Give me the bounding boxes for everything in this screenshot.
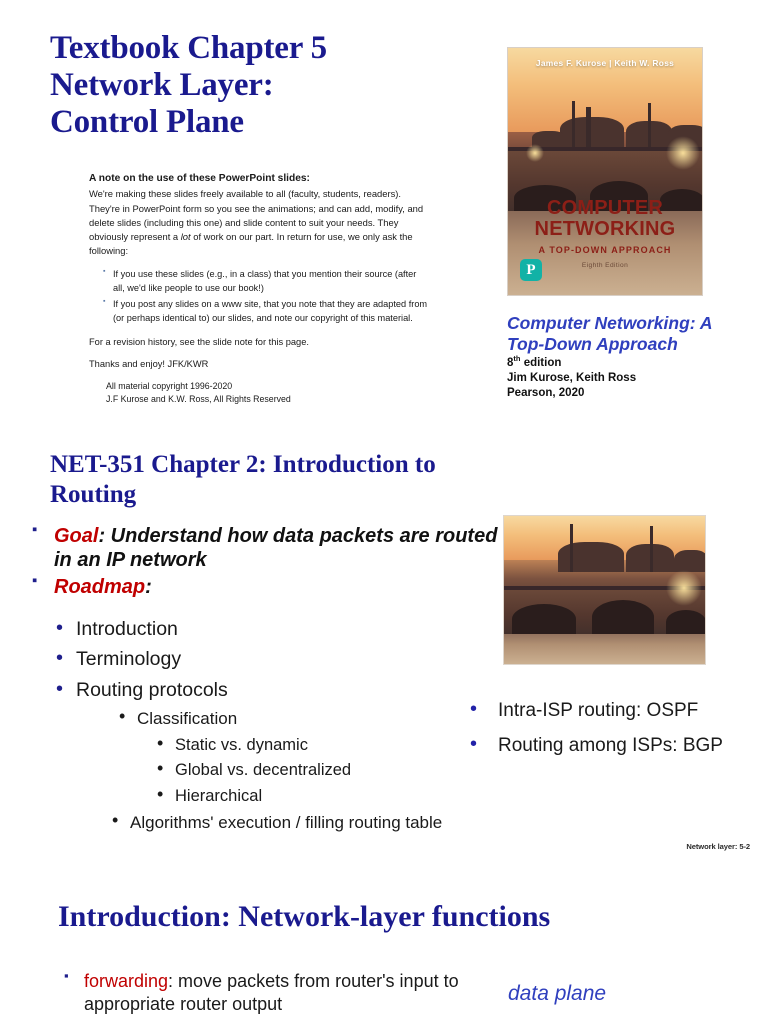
bullet-routing-among-isps: Routing among ISPs: BGP — [462, 735, 762, 758]
cover-title-line-1: COMPUTER — [508, 198, 702, 218]
roadmap-item-routing-protocols: Routing protocols — [50, 679, 490, 702]
slide1-title-line-3: Control Plane — [50, 104, 490, 141]
isp-routing-bullets: Intra-ISP routing: OSPF Routing among IS… — [462, 700, 762, 770]
photo2-streetlight-glow — [666, 570, 702, 606]
classification-item-global-decentralized: Global vs. decentralized — [153, 761, 490, 781]
goal-text: : Understand how data packets are routed… — [54, 525, 497, 571]
note-revision-history: For a revision history, see the slide no… — [89, 337, 429, 347]
note-paragraph: We're making these slides freely availab… — [89, 187, 429, 258]
slide2-footer: Network layer: 5-2 — [686, 842, 750, 851]
book-caption: Computer Networking: A Top-Down Approach… — [507, 313, 757, 402]
cover-title-line-2: NETWORKING — [508, 219, 702, 239]
slide2-title: NET-351 Chapter 2: Introduction to Routi… — [50, 450, 550, 509]
photo2-skyline-silhouette — [504, 537, 705, 573]
roadmap-bullet: Roadmap: — [28, 575, 498, 599]
goal-roadmap-block: Goal: Understand how data packets are ro… — [28, 524, 498, 601]
classification-item-static-dynamic: Static vs. dynamic — [153, 736, 490, 756]
data-plane-label: data plane — [508, 982, 606, 1006]
cover-lamp-glow — [526, 144, 544, 162]
classification-item-hierarchical: Hierarchical — [153, 787, 490, 807]
book-caption-title-line-2: Top-Down Approach — [507, 334, 757, 355]
note-heading: A note on the use of these PowerPoint sl… — [89, 171, 429, 186]
slide2-title-line-1: NET-351 Chapter 2: Introduction to — [50, 450, 550, 480]
powerpoint-note-block: A note on the use of these PowerPoint sl… — [89, 171, 429, 405]
roadmap-item-introduction: Introduction — [50, 618, 490, 641]
roadmap-item-classification: Classification — [115, 709, 490, 729]
roadmap-colon: : — [145, 576, 152, 598]
photo2-water — [504, 631, 705, 664]
forwarding-bullet: forwarding: move packets from router's i… — [62, 970, 472, 1015]
note-copyright-line-1: All material copyright 1996-2020 — [106, 380, 429, 393]
cover-streetlight-glow — [666, 136, 700, 170]
slide1-title-line-1: Textbook Chapter 5 — [50, 30, 490, 67]
slide1-title-line-2: Network Layer: — [50, 67, 490, 104]
book-caption-edition-word: edition — [521, 357, 562, 369]
roadmap-label: Roadmap — [54, 576, 145, 598]
note-bullet-list: If you use these slides (e.g., in a clas… — [89, 268, 429, 326]
cover-authors: James F. Kurose | Keith W. Ross — [508, 58, 702, 68]
slide3-title: Introduction: Network-layer functions — [58, 900, 718, 933]
book-caption-title-line-1: Computer Networking: A — [507, 313, 757, 334]
note-copyright-line-2: J.F Kurose and K.W. Ross, All Rights Res… — [106, 393, 429, 406]
note-bullet-1: If you use these slides (e.g., in a clas… — [103, 268, 429, 296]
book-caption-authors: Jim Kurose, Keith Ross — [507, 371, 757, 386]
slide-deck-page: Textbook Chapter 5 Network Layer: Contro… — [0, 0, 768, 1024]
bridge-photo-image — [503, 515, 706, 665]
goal-bullet: Goal: Understand how data packets are ro… — [28, 524, 498, 573]
pearson-logo-icon: P — [520, 259, 542, 281]
roadmap-list: Introduction Terminology Routing protoco… — [50, 618, 490, 839]
note-bullet-2: If you post any slides on a www site, th… — [103, 298, 429, 326]
roadmap-item-algorithms-execution: Algorithms' execution / filling routing … — [108, 813, 490, 833]
forwarding-label: forwarding — [84, 971, 168, 991]
roadmap-item-terminology: Terminology — [50, 648, 490, 671]
bullet-intra-isp-routing: Intra-ISP routing: OSPF — [462, 700, 762, 723]
book-caption-publisher: Pearson, 2020 — [507, 386, 757, 401]
book-caption-edition: 8th edition — [507, 354, 757, 371]
slide1-title: Textbook Chapter 5 Network Layer: Contro… — [50, 30, 490, 141]
note-paragraph-emphasis: lot — [181, 231, 191, 242]
book-cover-image: James F. Kurose | Keith W. Ross COMPUTER… — [507, 47, 703, 296]
book-caption-edition-suffix: th — [513, 354, 520, 363]
note-copyright: All material copyright 1996-2020 J.F Kur… — [89, 380, 429, 406]
book-caption-title: Computer Networking: A Top-Down Approach — [507, 313, 757, 354]
cover-title: COMPUTER NETWORKING — [508, 198, 702, 239]
cover-subtitle: A TOP-DOWN APPROACH — [508, 245, 702, 255]
note-thanks: Thanks and enjoy! JFK/KWR — [89, 359, 429, 369]
slide2-title-line-2: Routing — [50, 480, 550, 510]
forwarding-block: forwarding: move packets from router's i… — [62, 970, 472, 1015]
goal-label: Goal — [54, 525, 98, 547]
